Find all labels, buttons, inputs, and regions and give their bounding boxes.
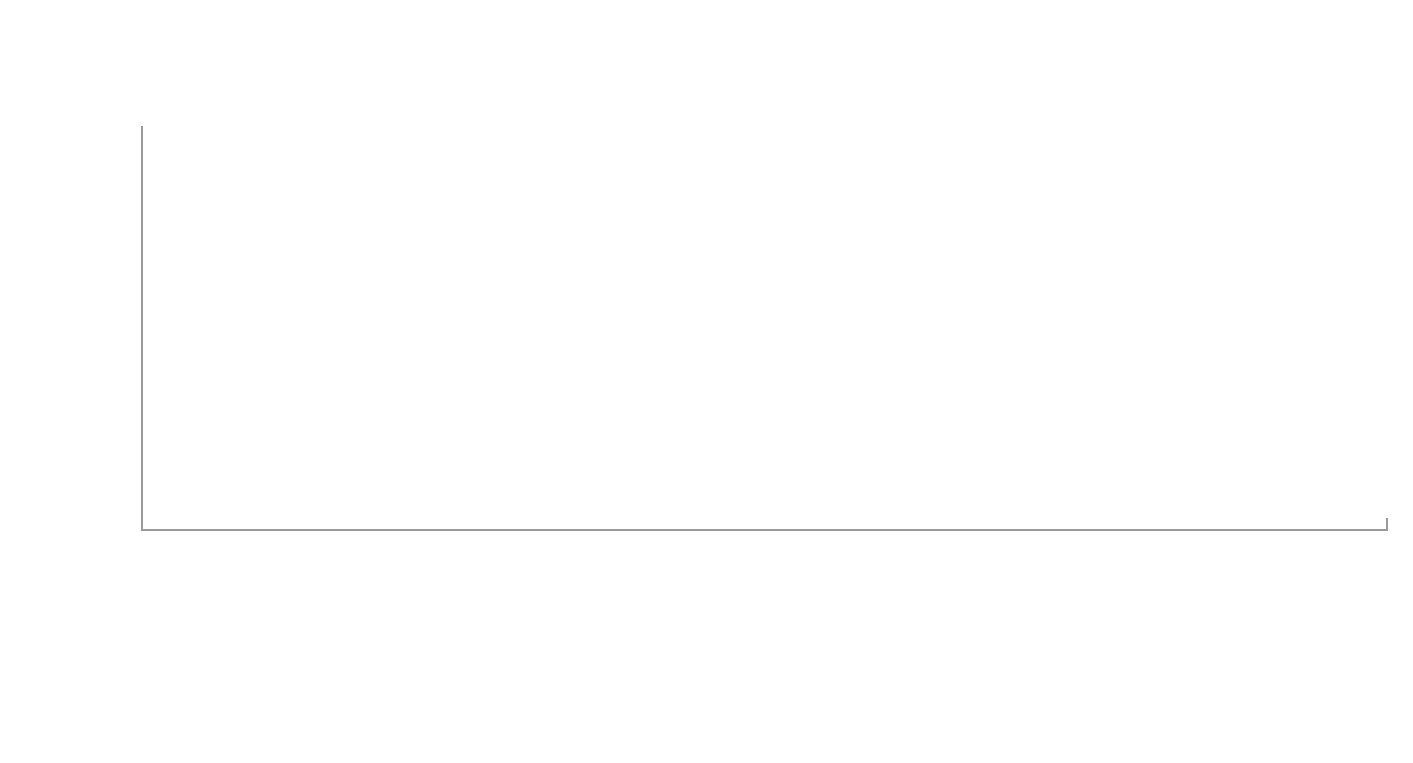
x-axis-group-names — [0, 566, 1413, 592]
figure-title — [0, 20, 1413, 32]
x-axis-line — [141, 529, 1388, 531]
y-axis-ticks — [60, 122, 132, 534]
chart-container — [0, 118, 1413, 538]
x-axis-section-labels — [0, 600, 1413, 628]
slide-title — [0, 0, 1413, 20]
plot-area — [143, 126, 1388, 529]
footnotes — [32, 700, 1382, 720]
